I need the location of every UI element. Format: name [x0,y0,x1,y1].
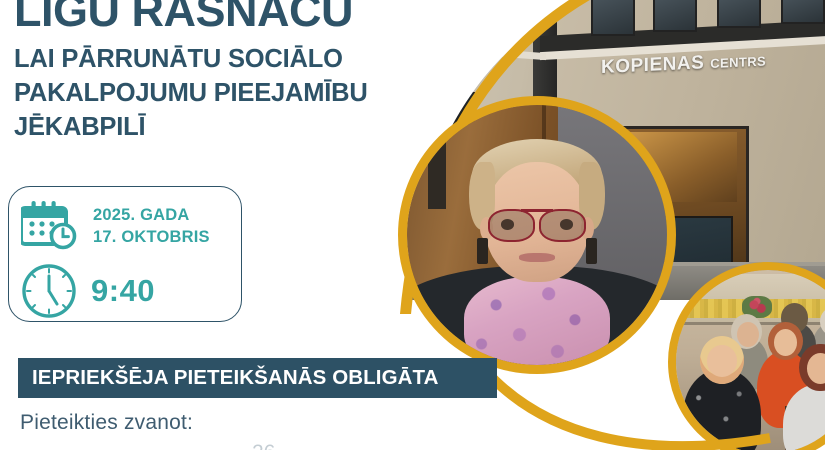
event-date-text: 2025. GADA 17. OKTOBRIS [93,204,210,248]
calendar-clock-icon [21,199,79,253]
building-sign-secondary: CENTRS [710,53,766,71]
headline-secondary: LAI PĀRRUNĀTU SOCIĀLO PAKALPOJUMU PIEEJA… [14,42,484,144]
clock-icon [21,263,77,319]
poster-canvas: KOPIENAS CENTRS [0,0,825,450]
page-title: LĪGU RASNAČU LAI PĀRRUNĀTU SOCIĀLO PAKAL… [14,0,484,144]
registration-banner-text: IEPRIEKŠĒJA PIETEIKŠANĀS OBLIGĀTA [32,366,439,390]
audience-photo [668,262,825,450]
event-details-card: 2025. GADA 17. OKTOBRIS 9:40 [8,186,242,322]
registration-banner: IEPRIEKŠĒJA PIETEIKŠANĀS OBLIGĀTA [18,358,497,398]
window-upper-main-4 [781,0,825,24]
window-upper-left-2 [493,0,527,40]
window-upper-main-3 [717,0,761,28]
event-date-day: 17. OKTOBRIS [93,226,210,248]
event-date-year: 2025. GADA [93,204,210,226]
headline-primary: LĪGU RASNAČU [14,0,484,33]
phone-number-clipped: 26 [252,441,372,450]
window-upper-main-2 [653,0,697,32]
building-sign-primary: KOPIENAS [601,52,704,79]
event-date-row: 2025. GADA 17. OKTOBRIS [21,199,210,253]
window-upper-main-1 [591,0,635,36]
call-instruction-text: Pieteikties zvanot: [20,411,193,435]
event-time-row: 9:40 [21,263,155,319]
event-time-text: 9:40 [91,273,155,309]
